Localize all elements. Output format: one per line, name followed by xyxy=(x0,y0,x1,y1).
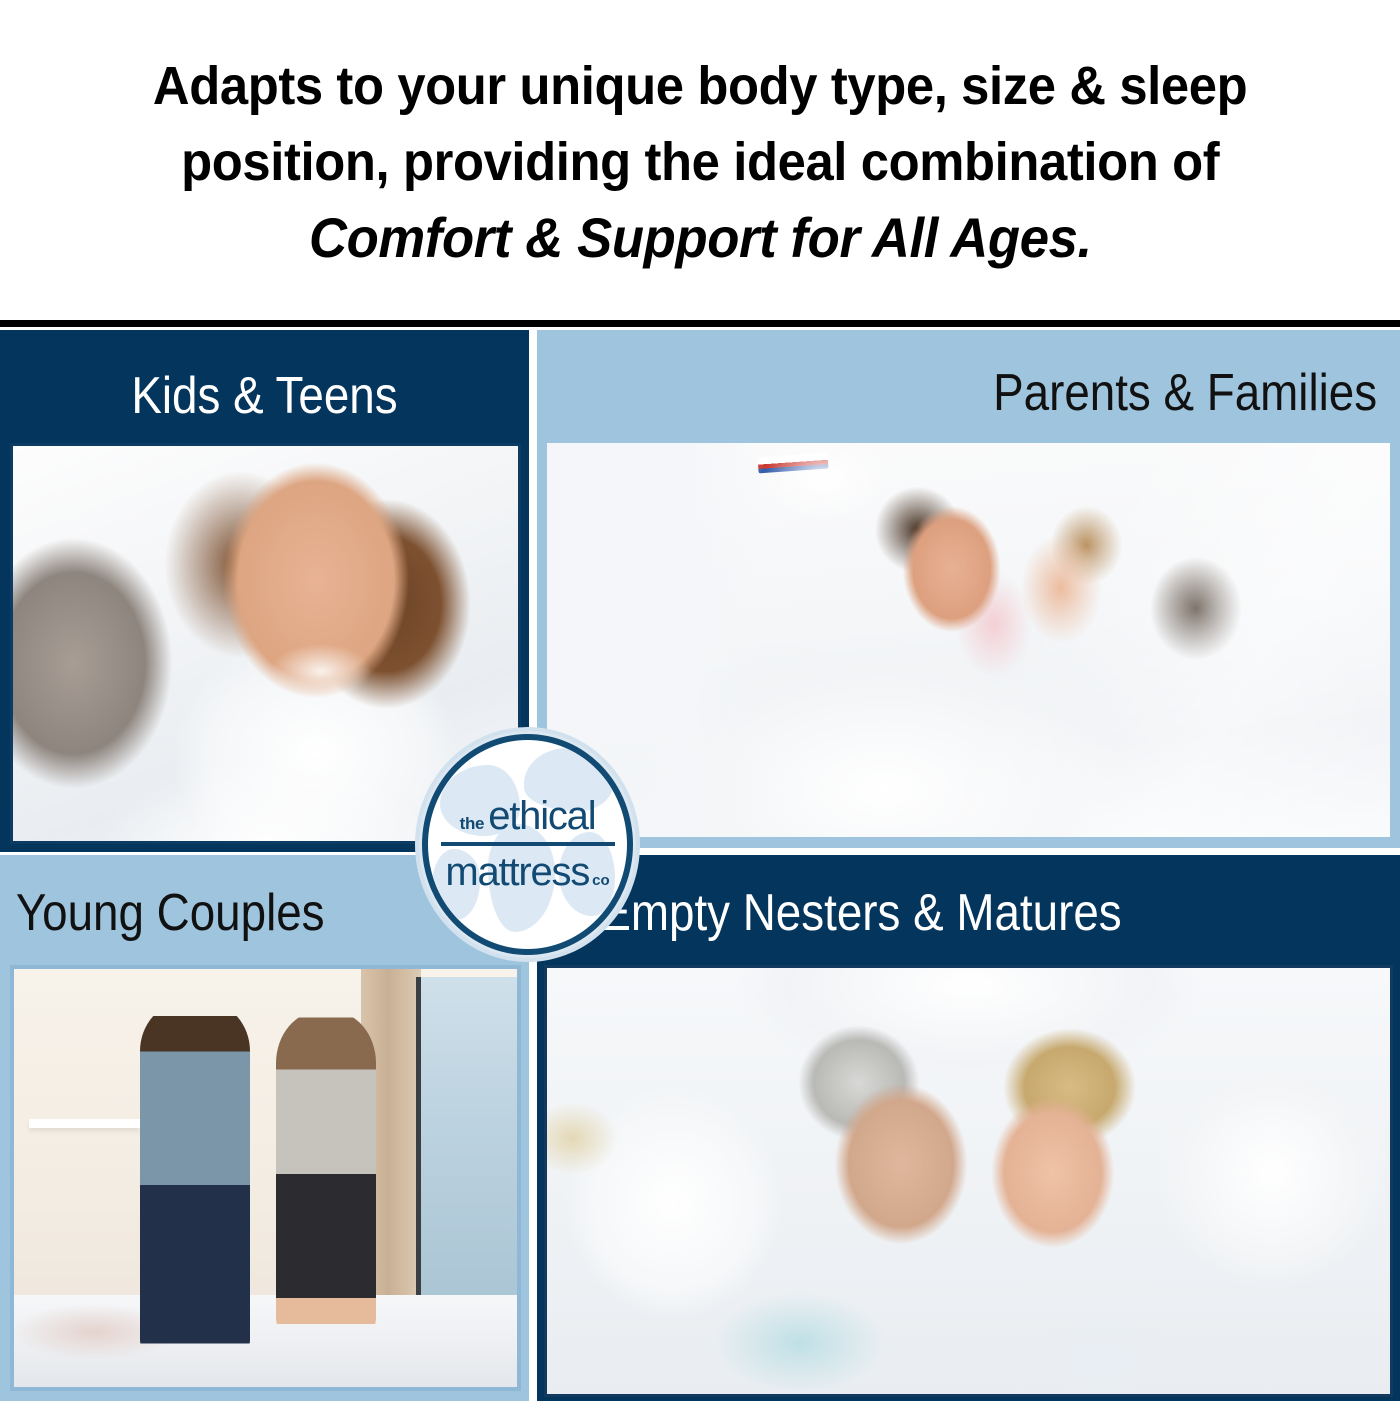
brand-logo-badge[interactable]: the ethical mattress co xyxy=(415,727,640,962)
quadrant-label-parents-families: Parents & Families xyxy=(641,367,1400,419)
photo-young-couples xyxy=(10,965,521,1391)
quadrant-label-empty-nesters: Empty Nesters & Matures xyxy=(537,887,1296,939)
logo-the: the xyxy=(460,814,485,834)
quadrant-empty-nesters: Empty Nesters & Matures xyxy=(537,855,1400,1401)
logo-line-one: the ethical xyxy=(460,794,596,839)
headline-line-3: Comfort & Support for All Ages. xyxy=(309,200,1092,276)
man-figure xyxy=(140,1002,251,1353)
logo-co: co xyxy=(592,872,610,889)
headline-line-1: Adapts to your unique body type, size & … xyxy=(153,48,1247,124)
book-on-nightstand xyxy=(757,452,828,473)
section-divider-rule xyxy=(0,320,1400,327)
logo-inner-ring: the ethical mattress co xyxy=(422,734,633,955)
bed xyxy=(14,1295,517,1387)
logo-divider-rule xyxy=(441,842,615,846)
window xyxy=(416,977,517,1320)
marketing-poster: Adapts to your unique body type, size & … xyxy=(0,0,1400,1401)
logo-mattress: mattress xyxy=(445,850,589,895)
photo-parents-families xyxy=(544,440,1393,840)
photo-scene-mature-couple xyxy=(547,968,1390,1394)
quadrant-parents-families: Parents & Families xyxy=(537,330,1400,848)
logo-ethical: ethical xyxy=(488,794,595,839)
photo-scene-family-sleeping xyxy=(547,443,1390,837)
wall-shelf xyxy=(29,1119,140,1128)
headline-block: Adapts to your unique body type, size & … xyxy=(0,0,1400,322)
logo-line-two: mattress co xyxy=(445,850,609,895)
headline-line-2: position, providing the ideal combinatio… xyxy=(181,124,1219,200)
logo-wordmark: the ethical mattress co xyxy=(428,740,627,949)
photo-scene-couple-jumping xyxy=(14,969,517,1387)
quadrant-label-kids-teens: Kids & Teens xyxy=(32,370,498,422)
quadrant-label-young-couples: Young Couples xyxy=(0,887,466,939)
woman-figure xyxy=(276,1011,377,1337)
photo-empty-nesters xyxy=(544,965,1393,1397)
